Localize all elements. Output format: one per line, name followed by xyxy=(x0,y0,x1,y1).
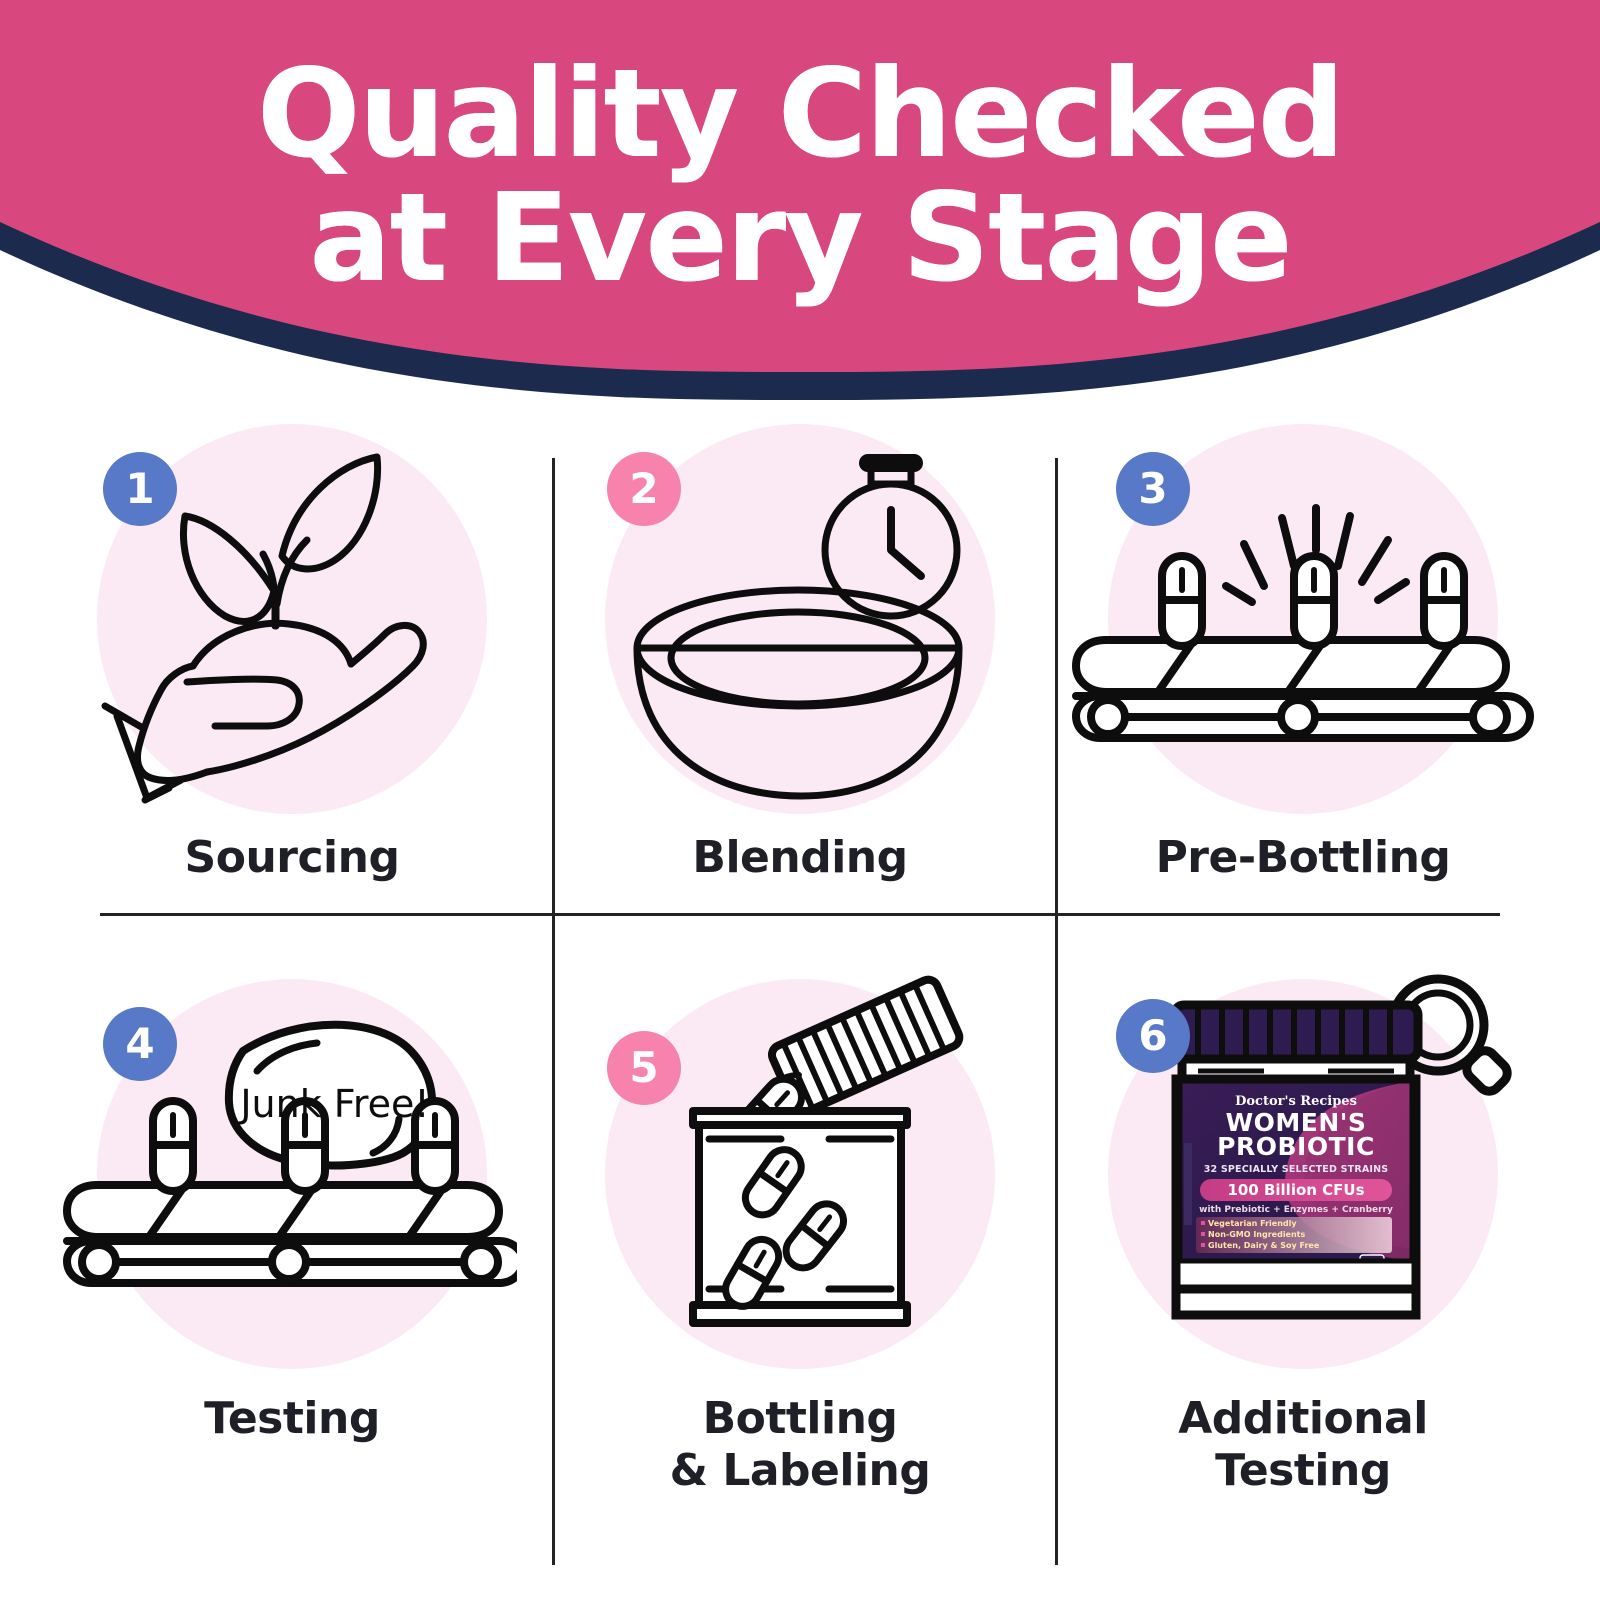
stage-2-number: 2 xyxy=(629,468,658,510)
stage-6-label: Additional Testing xyxy=(1178,1393,1428,1497)
stage-card-4[interactable]: 4 xyxy=(42,965,542,1445)
page-title: Quality Checked at Every Stage xyxy=(0,52,1600,301)
stage-2-label: Blending xyxy=(692,832,907,884)
stage-6-number: 6 xyxy=(1138,1015,1167,1057)
stage-4-number: 4 xyxy=(125,1023,154,1065)
stage-card-5[interactable]: 5 xyxy=(550,965,1050,1497)
stage-1-number-badge: 1 xyxy=(103,452,177,526)
stage-2-artwork: 2 xyxy=(565,410,1035,850)
stage-3-number-badge: 3 xyxy=(1116,452,1190,526)
speech-bubble-text: Junk Free! xyxy=(238,1082,429,1126)
conveyor-capsules-inspection-icon xyxy=(1066,490,1536,770)
stage-1-artwork: 1 xyxy=(57,410,527,850)
product-label: Doctor's Recipes WOMEN'S PROBIOTIC 32 SP… xyxy=(1180,1081,1412,1275)
stage-5-label: Bottling & Labeling xyxy=(670,1393,931,1497)
stage-card-3[interactable]: 3 xyxy=(1053,410,1553,884)
stage-6-artwork: 6 xyxy=(1068,965,1538,1405)
page-title-line-2: at Every Stage xyxy=(0,176,1600,300)
label-product-line-2: PROBIOTIC xyxy=(1217,1132,1375,1161)
stage-3-number: 3 xyxy=(1138,468,1167,510)
stage-2-number-badge: 2 xyxy=(607,452,681,526)
stage-6-number-badge: 6 xyxy=(1116,999,1190,1073)
infographic-page: Quality Checked at Every Stage 1 xyxy=(0,0,1600,1600)
stage-4-label: Testing xyxy=(204,1393,380,1445)
page-title-line-1: Quality Checked xyxy=(0,52,1600,176)
label-with-line: with Prebiotic + Enzymes + Cranberry xyxy=(1199,1205,1393,1215)
stage-5-number: 5 xyxy=(629,1047,658,1089)
stage-card-6[interactable]: 6 xyxy=(1053,965,1553,1497)
label-bullet-2: Non-GMO Ingredients xyxy=(1208,1230,1306,1239)
product-bottle-icon: Doctor's Recipes WOMEN'S PROBIOTIC 32 SP… xyxy=(1146,997,1446,1327)
label-strains: 32 SPECIALLY SELECTED STRAINS xyxy=(1204,1164,1389,1175)
stage-3-label: Pre-Bottling xyxy=(1156,832,1451,884)
stage-4-number-badge: 4 xyxy=(103,1007,177,1081)
stage-card-2[interactable]: 2 xyxy=(550,410,1050,884)
grid-divider-horizontal xyxy=(100,913,1500,916)
label-cfu-badge: 100 Billion CFUs xyxy=(1227,1181,1364,1199)
label-bullet-1: Vegetarian Friendly xyxy=(1208,1219,1297,1228)
label-bullet-3: Gluten, Dairy & Soy Free xyxy=(1208,1241,1320,1250)
stages-grid: 1 xyxy=(0,400,1600,1600)
stage-1-number: 1 xyxy=(125,468,154,510)
stage-4-artwork: 4 xyxy=(57,965,527,1405)
label-brand: Doctor's Recipes xyxy=(1235,1094,1357,1109)
stage-5-artwork: 5 xyxy=(565,965,1035,1405)
stage-card-1[interactable]: 1 xyxy=(42,410,542,884)
stage-3-artwork: 3 xyxy=(1068,410,1538,850)
header-banner: Quality Checked at Every Stage xyxy=(0,0,1600,400)
stage-5-number-badge: 5 xyxy=(607,1031,681,1105)
stage-1-label: Sourcing xyxy=(185,832,400,884)
